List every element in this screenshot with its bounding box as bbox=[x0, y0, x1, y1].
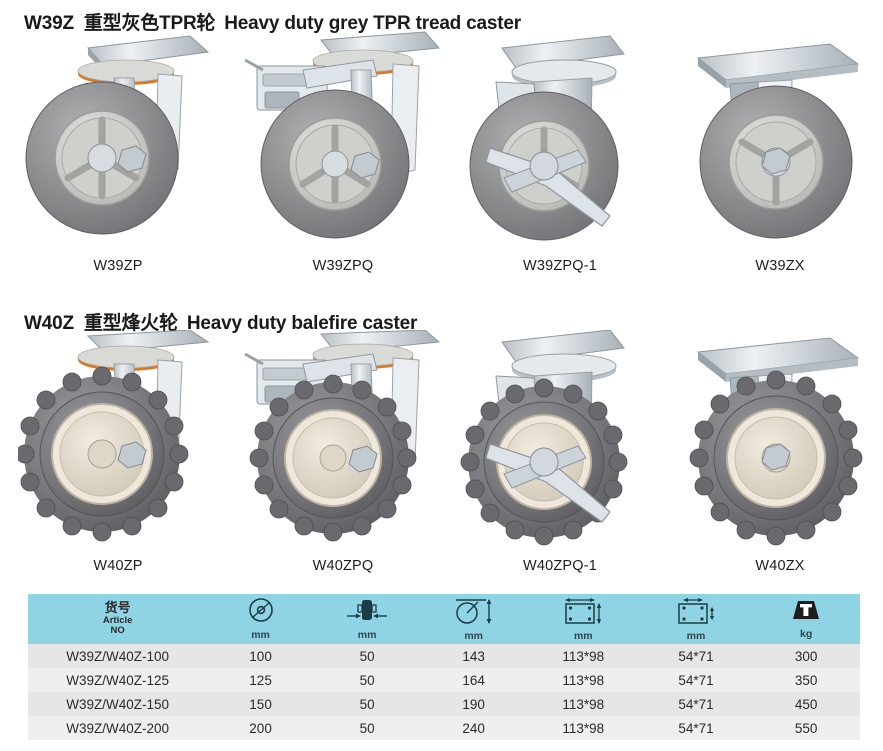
header-load-capacity: kg bbox=[752, 594, 860, 644]
header-unit: mm bbox=[358, 630, 377, 641]
header-article-cn: 货号 bbox=[28, 601, 207, 616]
product-card-w39zp[interactable]: W39ZP bbox=[18, 30, 218, 280]
header-unit: mm bbox=[464, 631, 483, 642]
header-top-plate-size: mm bbox=[527, 594, 640, 644]
header-unit: kg bbox=[800, 629, 812, 640]
product-card-w40zx[interactable]: W40ZX bbox=[680, 330, 880, 580]
cell-load-capacity: 550 bbox=[752, 716, 860, 740]
caster-swivel-lug-icon bbox=[18, 330, 218, 552]
table-row: W39Z/W40Z-150 150 50 190 113*98 54*71 45… bbox=[28, 692, 860, 716]
product-label: W40ZX bbox=[680, 558, 880, 574]
cell-load-capacity: 350 bbox=[752, 668, 860, 692]
header-article-no: 货号 Article NO bbox=[28, 594, 207, 644]
product-label: W39ZX bbox=[680, 258, 880, 274]
cell-top-plate-size: 113*98 bbox=[527, 716, 640, 740]
bolt-spacing-icon bbox=[671, 596, 721, 631]
cell-article-no: W39Z/W40Z-150 bbox=[28, 692, 207, 716]
caster-rigid-lug-icon bbox=[680, 330, 880, 552]
top-plate-size-icon bbox=[558, 596, 608, 631]
table-header-row: 货号 Article NO mm bbox=[28, 594, 860, 644]
header-unit: mm bbox=[574, 631, 593, 642]
product-label: W39ZPQ-1 bbox=[460, 258, 660, 274]
header-overall-height: mm bbox=[420, 594, 527, 644]
product-label: W40ZPQ-1 bbox=[460, 558, 660, 574]
table-row: W39Z/W40Z-200 200 50 240 113*98 54*71 55… bbox=[28, 716, 860, 740]
product-card-w40zpq-1[interactable]: W40ZPQ-1 bbox=[460, 330, 660, 580]
product-label: W40ZPQ bbox=[243, 558, 443, 574]
caster-swivel-smooth-icon bbox=[18, 30, 218, 252]
tread-width-icon bbox=[344, 597, 390, 630]
cell-wheel-diameter: 100 bbox=[207, 644, 314, 668]
product-row-w39z: W39ZP bbox=[0, 30, 883, 280]
cell-article-no: W39Z/W40Z-100 bbox=[28, 644, 207, 668]
header-bolt-spacing: mm bbox=[640, 594, 753, 644]
table-body: W39Z/W40Z-100 100 50 143 113*98 54*71 30… bbox=[28, 644, 860, 740]
header-tread-width: mm bbox=[314, 594, 421, 644]
cell-tread-width: 50 bbox=[314, 716, 421, 740]
header-article-en2: NO bbox=[28, 626, 207, 637]
caster-rigid-smooth-icon bbox=[680, 30, 880, 252]
product-card-w40zp[interactable]: W40ZP bbox=[18, 330, 218, 580]
product-label: W39ZPQ bbox=[243, 258, 443, 274]
product-label: W39ZP bbox=[18, 258, 218, 274]
cell-wheel-diameter: 150 bbox=[207, 692, 314, 716]
caster-lever-brake-lug-icon bbox=[460, 330, 660, 552]
cell-top-plate-size: 113*98 bbox=[527, 692, 640, 716]
cell-article-no: W39Z/W40Z-125 bbox=[28, 668, 207, 692]
cell-load-capacity: 450 bbox=[752, 692, 860, 716]
cell-bolt-spacing: 54*71 bbox=[640, 692, 753, 716]
caster-lever-brake-smooth-icon bbox=[460, 30, 660, 252]
header-unit: mm bbox=[687, 631, 706, 642]
table-row: W39Z/W40Z-125 125 50 164 113*98 54*71 35… bbox=[28, 668, 860, 692]
product-label: W40ZP bbox=[18, 558, 218, 574]
product-card-w39zx[interactable]: W39ZX bbox=[680, 30, 880, 280]
cell-wheel-diameter: 125 bbox=[207, 668, 314, 692]
cell-top-plate-size: 113*98 bbox=[527, 668, 640, 692]
cell-tread-width: 50 bbox=[314, 668, 421, 692]
caster-side-brake-lug-icon bbox=[243, 330, 443, 552]
caster-side-brake-smooth-icon bbox=[243, 30, 443, 252]
cell-tread-width: 50 bbox=[314, 644, 421, 668]
cell-overall-height: 143 bbox=[420, 644, 527, 668]
load-capacity-icon bbox=[789, 598, 823, 629]
product-card-w39zpq-1[interactable]: W39ZPQ-1 bbox=[460, 30, 660, 280]
cell-load-capacity: 300 bbox=[752, 644, 860, 668]
header-unit: mm bbox=[251, 630, 270, 641]
product-card-w40zpq[interactable]: W40ZPQ bbox=[243, 330, 443, 580]
cell-overall-height: 190 bbox=[420, 692, 527, 716]
header-wheel-diameter: mm bbox=[207, 594, 314, 644]
cell-wheel-diameter: 200 bbox=[207, 716, 314, 740]
specification-table: 货号 Article NO mm bbox=[28, 594, 860, 740]
table-row: W39Z/W40Z-100 100 50 143 113*98 54*71 30… bbox=[28, 644, 860, 668]
product-row-w40z: W40ZP bbox=[0, 330, 883, 580]
cell-overall-height: 164 bbox=[420, 668, 527, 692]
cell-tread-width: 50 bbox=[314, 692, 421, 716]
cell-article-no: W39Z/W40Z-200 bbox=[28, 716, 207, 740]
cell-bolt-spacing: 54*71 bbox=[640, 716, 753, 740]
cell-top-plate-size: 113*98 bbox=[527, 644, 640, 668]
product-card-w39zpq[interactable]: W39ZPQ bbox=[243, 30, 443, 280]
cell-bolt-spacing: 54*71 bbox=[640, 668, 753, 692]
overall-height-icon bbox=[452, 596, 496, 631]
wheel-diameter-icon bbox=[246, 597, 276, 630]
cell-overall-height: 240 bbox=[420, 716, 527, 740]
cell-bolt-spacing: 54*71 bbox=[640, 644, 753, 668]
